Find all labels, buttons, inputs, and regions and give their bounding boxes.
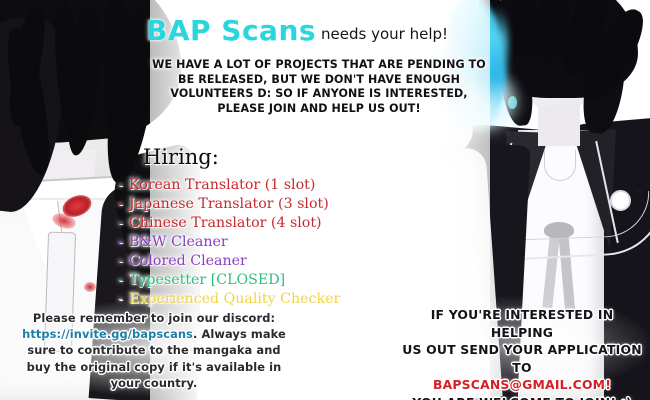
application-notice-line: YOU ARE WELCOME TO JOIN! :) (412, 395, 632, 400)
hiring-role-label: Japanese Translator (3 slot) (129, 196, 329, 212)
bullet-dash: - (118, 233, 129, 252)
application-notice: IF YOU'RE INTERESTED IN HELPING US OUT S… (398, 306, 646, 400)
announcement-text: WE HAVE A LOT OF PROJECTS THAT ARE PENDI… (149, 58, 489, 116)
list-item: -Colored Cleaner (118, 252, 368, 271)
title-subtext: needs your help! (321, 27, 448, 45)
hiring-role-label: Korean Translator (1 slot) (129, 177, 315, 193)
discord-invite-link[interactable]: https://invite.gg/bapscans (22, 327, 193, 341)
bullet-dash: - (118, 271, 129, 290)
contact-email[interactable]: BAPSCANS@GMAIL.COM! (433, 377, 611, 392)
discord-notice-line: country. (144, 376, 197, 390)
list-item: -Chinese Translator (4 slot) (118, 214, 368, 233)
hiring-role-label: Experienced Quality Checker (129, 291, 340, 307)
scanlation-group-name: BAP Scans (146, 17, 316, 45)
bullet-dash: - (118, 195, 129, 214)
discord-notice-line: Please remember to join our discord: (33, 311, 275, 325)
page-title: BAP Scans needs your help! (146, 17, 448, 45)
discord-notice-line: . Always make (193, 327, 286, 341)
application-notice-line: US OUT SEND YOUR APPLICATION TO (402, 342, 642, 375)
list-item: -B&W Cleaner (118, 233, 368, 252)
application-notice-line: IF YOU'RE INTERESTED IN HELPING (431, 307, 614, 340)
hiring-heading: Hiring: (143, 147, 219, 168)
hiring-role-label: Colored Cleaner (129, 253, 247, 269)
discord-notice: Please remember to join our discord: htt… (16, 310, 292, 391)
hiring-role-label: Typesetter [CLOSED] (129, 272, 285, 288)
list-item: -Experienced Quality Checker (118, 290, 368, 309)
list-item: -Korean Translator (1 slot) (118, 176, 368, 195)
hiring-role-label: B&W Cleaner (129, 234, 228, 250)
list-item: -Typesetter [CLOSED] (118, 271, 368, 290)
text-overlay: BAP Scans needs your help! WE HAVE A LOT… (0, 0, 650, 400)
bullet-dash: - (118, 252, 129, 271)
bullet-dash: - (118, 214, 129, 233)
list-item: -Japanese Translator (3 slot) (118, 195, 368, 214)
bullet-dash: - (118, 176, 129, 195)
hiring-role-label: Chinese Translator (4 slot) (129, 215, 322, 231)
hiring-list: -Korean Translator (1 slot) -Japanese Tr… (118, 176, 368, 309)
scanlation-recruitment-page: BAP Scans needs your help! WE HAVE A LOT… (0, 0, 650, 400)
bullet-dash: - (118, 290, 129, 309)
